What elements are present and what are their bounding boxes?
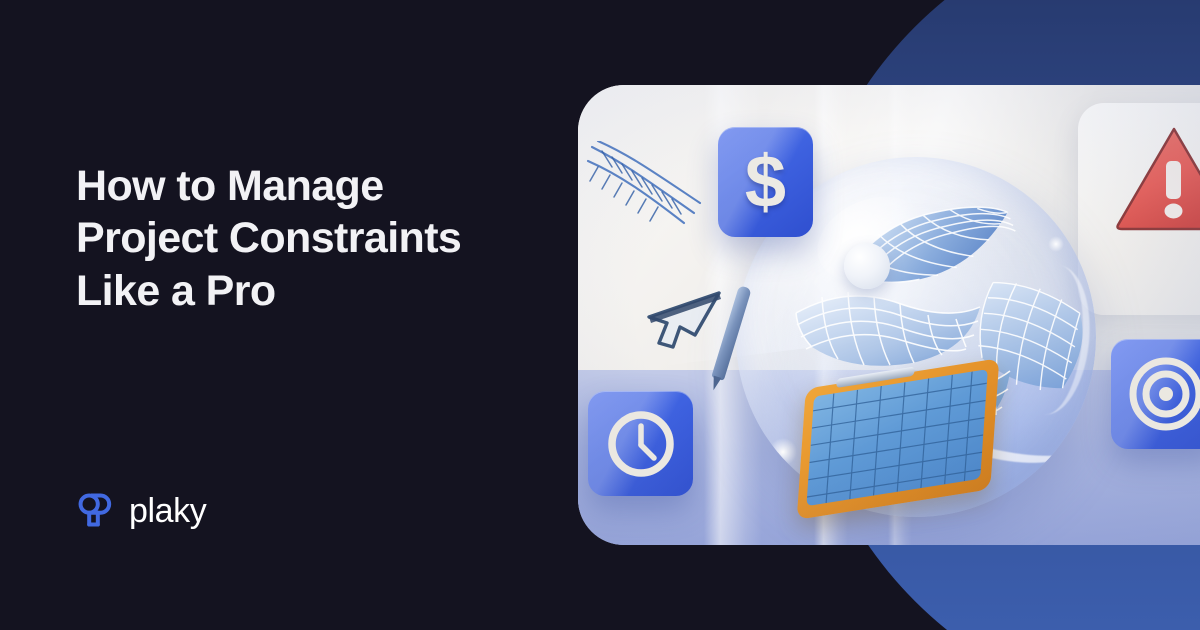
cursor-arrow-icon	[633, 277, 729, 351]
fern-plant-icon	[584, 141, 732, 259]
clock-icon	[603, 406, 679, 482]
brand-name: plaky	[129, 494, 206, 528]
artwork-panel: $	[578, 85, 1200, 545]
warning-triangle-icon	[1112, 123, 1200, 235]
dollar-icon: $	[745, 145, 786, 219]
text-column: How to Manage Project Constraints Like a…	[0, 0, 560, 630]
artwork-canvas: $	[578, 85, 1200, 545]
white-ball	[844, 243, 890, 289]
sphere-highlight	[1048, 236, 1064, 252]
page-title: How to Manage Project Constraints Like a…	[76, 160, 546, 317]
target-icon	[1125, 353, 1200, 435]
tile-cost: $	[718, 127, 813, 237]
brand-lockup[interactable]: plaky	[76, 490, 206, 530]
tile-scope	[1111, 339, 1200, 449]
tile-time	[588, 391, 693, 496]
sphere-highlight	[768, 437, 798, 467]
plaky-logo-icon	[76, 490, 116, 530]
